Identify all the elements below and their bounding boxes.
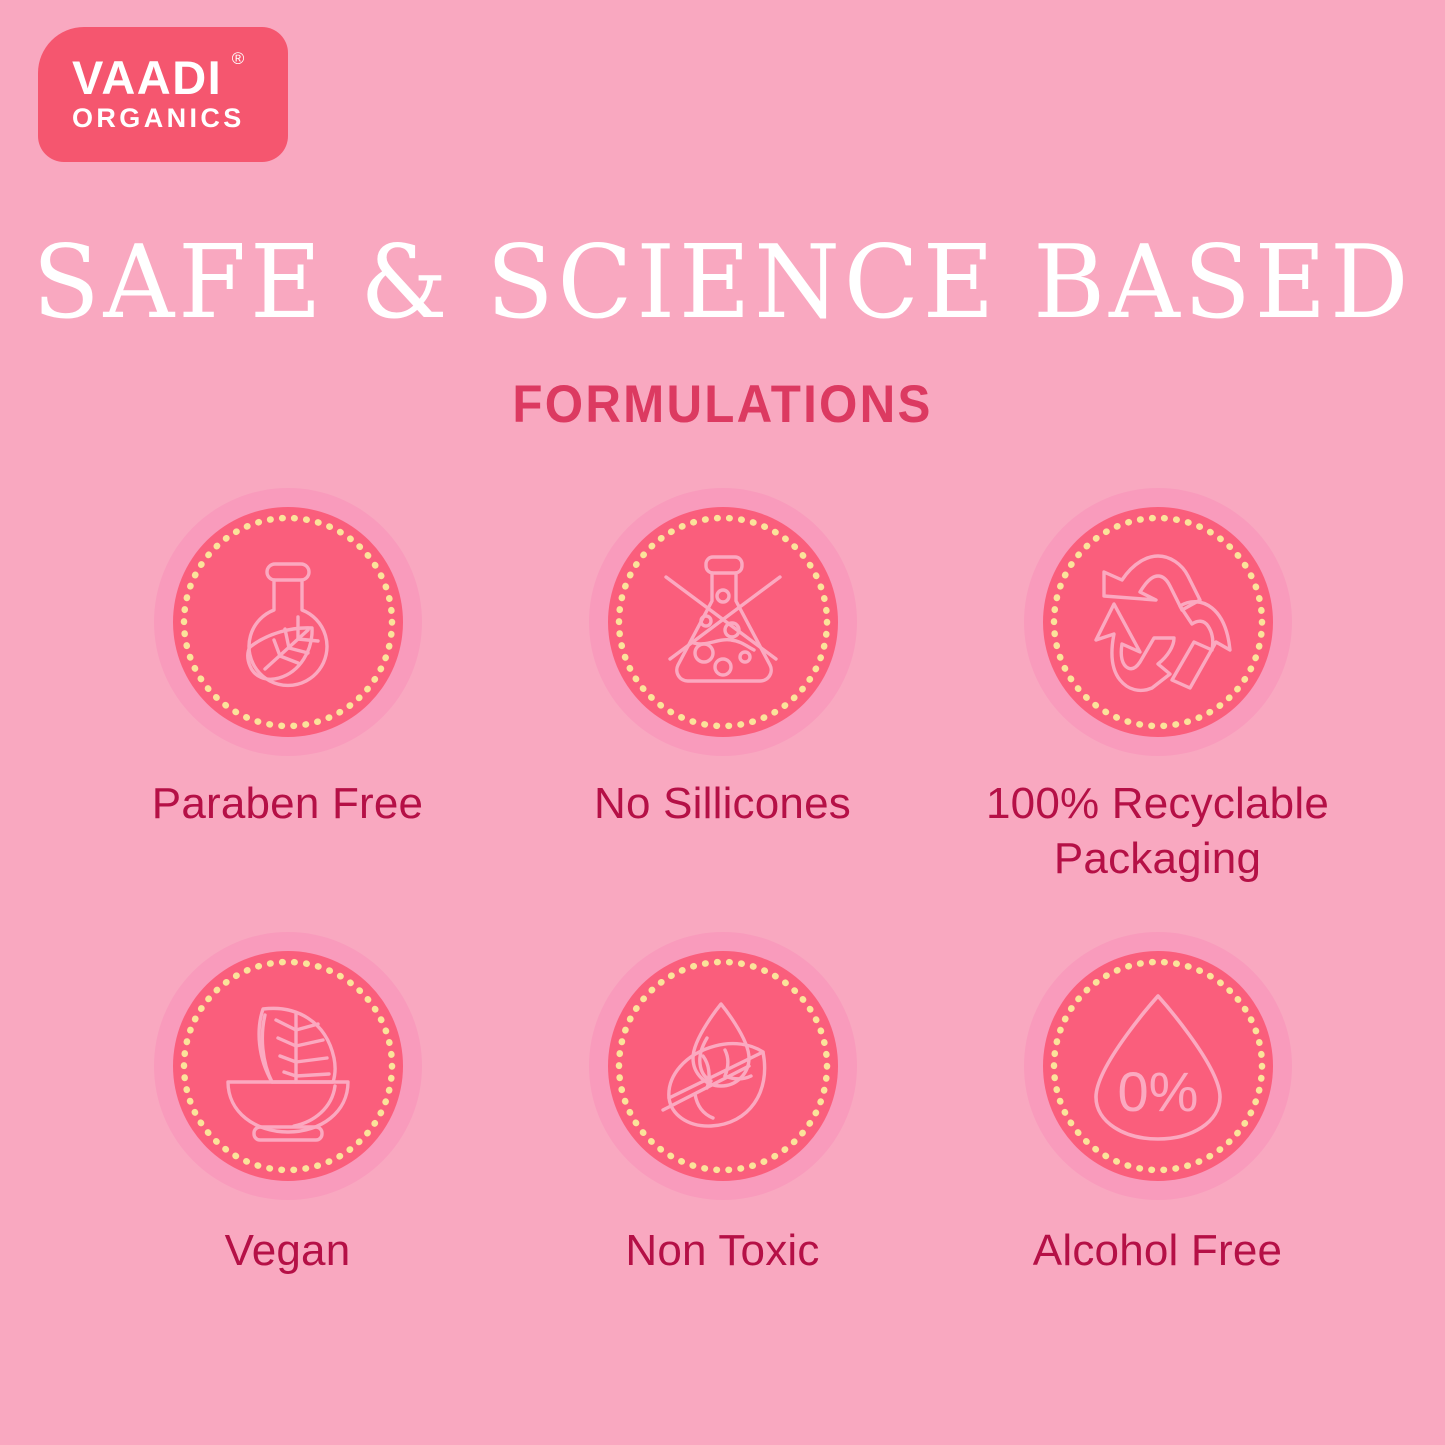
droplet-leaf-icon <box>608 951 838 1181</box>
bowl-leaf-icon <box>173 951 403 1181</box>
droplet-zero-value: 0% <box>1117 1060 1198 1123</box>
brand-subname: ORGANICS <box>72 104 245 134</box>
page-title: SAFE & SCIENCE BASED <box>22 232 1424 333</box>
badge-circle <box>1024 488 1292 756</box>
badge-label: Paraben Free <box>152 776 423 831</box>
feature-badge-alcohol-free: 0% Alcohol Free <box>940 932 1375 1278</box>
feature-badge-no-sillicones: No Sillicones <box>505 488 940 887</box>
badge-circle: 0% <box>1024 932 1292 1200</box>
feature-badge-recyclable-packaging: 100% Recyclable Packaging <box>940 488 1375 887</box>
badge-circle <box>589 932 857 1200</box>
badge-label: No Sillicones <box>594 776 851 831</box>
feature-badge-vegan: Vegan <box>70 932 505 1278</box>
recycle-icon <box>1043 507 1273 737</box>
feature-badge-paraben-free: Paraben Free <box>70 488 505 887</box>
flask-crossed-out-icon <box>608 507 838 737</box>
feature-badge-grid: Paraben Free <box>70 488 1375 1278</box>
badge-circle <box>589 488 857 756</box>
badge-circle <box>154 932 422 1200</box>
badge-label: Non Toxic <box>625 1223 819 1278</box>
page-subtitle: FORMULATIONS <box>51 374 1395 435</box>
brand-name: VAADI® <box>72 55 222 101</box>
registered-trademark-icon: ® <box>232 51 245 68</box>
badge-label: Vegan <box>225 1223 351 1278</box>
droplet-zero-percent-icon: 0% <box>1043 951 1273 1181</box>
badge-label: Alcohol Free <box>1033 1223 1282 1278</box>
flask-leaf-icon <box>173 507 403 737</box>
badge-circle <box>154 488 422 756</box>
badge-label: 100% Recyclable Packaging <box>958 776 1358 887</box>
brand-name-text: VAADI <box>72 51 222 104</box>
feature-badge-non-toxic: Non Toxic <box>505 932 940 1278</box>
brand-logo: VAADI® ORGANICS <box>38 27 288 162</box>
